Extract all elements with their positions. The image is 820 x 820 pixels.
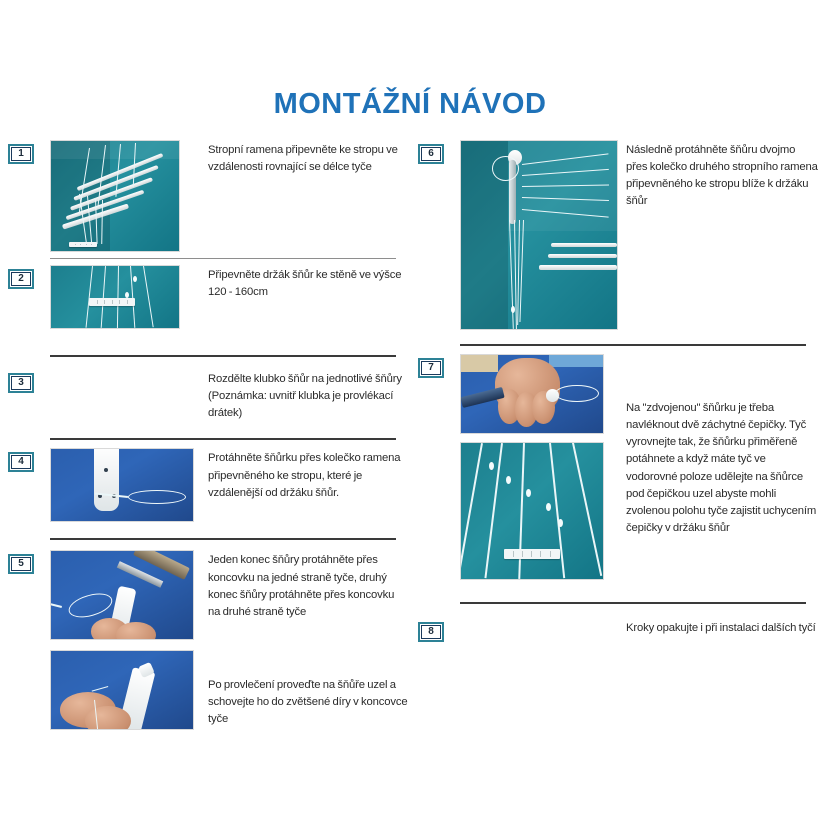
step-number-label: 7 xyxy=(428,363,434,373)
step-number-label: 8 xyxy=(428,627,434,637)
step-2-number-cell: 2 xyxy=(8,265,50,289)
step-number-badge: 5 xyxy=(8,554,34,574)
step-caption-secondary: Po provlečení proveďte na šňůře uzel a s… xyxy=(208,677,408,728)
step-4-media xyxy=(50,448,200,522)
right-column: 6 xyxy=(418,140,818,642)
separator-4 xyxy=(50,538,396,540)
step-3-number-cell: 3 xyxy=(8,369,50,393)
step-4-number-cell: 4 xyxy=(8,448,50,472)
step-caption: Stropní ramena připevněte ke stropu ve v… xyxy=(208,142,408,176)
step-number-label: 6 xyxy=(428,149,434,159)
arm-pulley-cord-photo xyxy=(50,448,194,522)
step-caption: Rozdělte klubko šňůr na jednotlivé šňůry… xyxy=(208,371,408,422)
second-ceiling-arm-photo xyxy=(460,140,618,330)
step-caption: Jeden konec šňůry protáhněte přes koncov… xyxy=(208,552,408,621)
step-number-label: 2 xyxy=(18,274,24,284)
left-column: 1 xyxy=(8,140,408,730)
step-4-text: Protáhněte šňůrku přes kolečko ramena př… xyxy=(200,448,408,501)
step-5-media xyxy=(50,550,200,730)
step-5-text: Jeden konec šňůry protáhněte přes koncov… xyxy=(200,550,408,728)
step-6-media xyxy=(460,140,618,330)
step-number-badge: 7 xyxy=(418,358,444,378)
separator-7 xyxy=(460,602,806,604)
separator-2 xyxy=(50,355,396,357)
separator-1 xyxy=(50,258,396,259)
step-8-number-cell: 8 xyxy=(418,618,460,642)
step-1-number-cell: 1 xyxy=(8,140,50,164)
step-5-number-cell: 5 xyxy=(8,550,50,574)
step-caption: Protáhněte šňůrku přes kolečko ramena př… xyxy=(208,450,408,501)
step-number-badge: 4 xyxy=(8,452,34,472)
step-number-label: 5 xyxy=(18,559,24,569)
step-caption: Na "zdvojenou" šňůrku je třeba navléknou… xyxy=(626,400,818,537)
hand-pliers-cap-photo xyxy=(460,354,604,434)
cord-loop xyxy=(128,490,187,504)
step-number-label: 3 xyxy=(18,378,24,388)
step-7: 7 xyxy=(418,354,818,580)
step-7-number-cell: 7 xyxy=(418,354,460,378)
step-5: 5 xyxy=(8,550,408,730)
step-2-text: Připevněte držák šňůr ke stěně ve výšce … xyxy=(200,265,408,301)
step-2-media xyxy=(50,265,200,329)
step-1-text: Stropní ramena připevněte ke stropu ve v… xyxy=(200,140,408,176)
step-number-badge: 2 xyxy=(8,269,34,289)
step-7-text: Na "zdvojenou" šňůrku je třeba navléknou… xyxy=(618,354,818,537)
step-number-badge: 8 xyxy=(418,622,444,642)
step-6: 6 xyxy=(418,140,818,330)
step-3-text: Rozdělte klubko šňůr na jednotlivé šňůry… xyxy=(200,369,408,422)
step-number-badge: 1 xyxy=(8,144,34,164)
step-number-badge: 3 xyxy=(8,373,34,393)
step-8-text: Kroky opakujte i při instalaci dalších t… xyxy=(618,618,818,637)
step-1-media xyxy=(50,140,200,252)
step-number-label: 4 xyxy=(18,457,24,467)
step-8: 8 Kroky opakujte i při instalaci dalších… xyxy=(418,618,818,642)
knot-in-endcap-photo xyxy=(50,650,194,730)
instruction-sheet: MONTÁŽNÍ NÁVOD 1 xyxy=(0,0,820,820)
step-3: 3 Rozdělte klubko šňůr na jednotlivé šňů… xyxy=(8,369,408,422)
step-2: 2 xyxy=(8,265,408,329)
step-6-number-cell: 6 xyxy=(418,140,460,164)
step-number-label: 1 xyxy=(18,149,24,159)
step-number-badge: 6 xyxy=(418,144,444,164)
page-title: MONTÁŽNÍ NÁVOD xyxy=(0,88,820,121)
pliers-rod-endcap-photo xyxy=(50,550,194,640)
separator-6 xyxy=(460,344,806,346)
step-1: 1 xyxy=(8,140,408,252)
ceiling-arms-photo xyxy=(50,140,180,252)
step-caption: Připevněte držák šňůr ke stěně ve výšce … xyxy=(208,267,408,301)
step-7-media xyxy=(460,354,618,580)
step-caption: Kroky opakujte i při instalaci dalších t… xyxy=(626,620,818,637)
step-6-text: Následně protáhněte šňůru dvojmo přes ko… xyxy=(618,140,818,211)
cord-holder-wall-photo xyxy=(50,265,180,329)
cords-with-caps-holder-photo xyxy=(460,442,604,580)
separator-3 xyxy=(50,438,396,440)
step-4: 4 Protáhněte šňůrku přes kolečko ramena … xyxy=(8,448,408,522)
step-caption: Následně protáhněte šňůru dvojmo přes ko… xyxy=(626,142,818,211)
